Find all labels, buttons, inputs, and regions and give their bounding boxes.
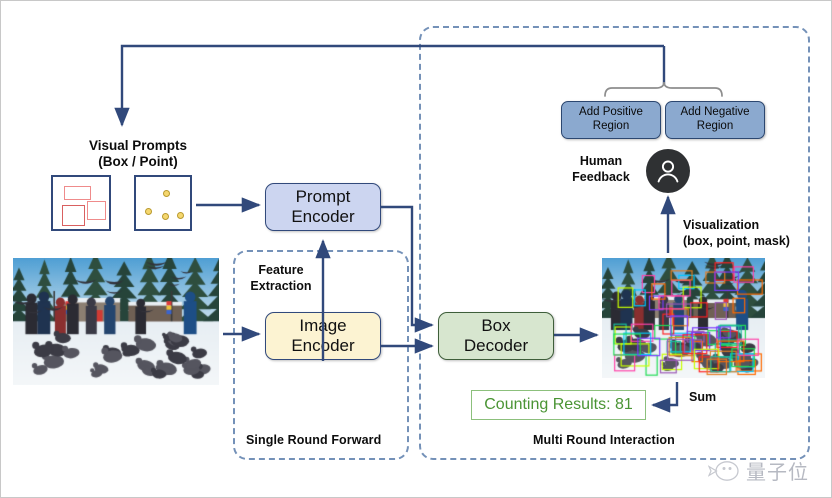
point-prompt-thumbnail[interactable]: [134, 175, 192, 231]
add-positive-region-line2: Region: [593, 120, 629, 132]
visual-prompts-label-line2: (Box / Point): [63, 153, 213, 170]
add-negative-region-line2: Region: [697, 120, 733, 132]
output-photo-with-boxes: [602, 258, 765, 378]
watermark-text: 量子位: [746, 456, 809, 485]
prompt-point-1: [163, 190, 170, 197]
node-image-encoder-line1: Image: [291, 316, 354, 336]
sum-label: Sum: [689, 389, 729, 405]
input-photo: [13, 258, 219, 385]
visualization-label-line1: Visualization: [683, 217, 831, 233]
node-prompt-encoder-line1: Prompt: [291, 187, 354, 207]
person-avatar-icon: [646, 149, 690, 193]
visual-prompts-label-line1: Visual Prompts: [63, 137, 213, 154]
node-box-decoder[interactable]: Box Decoder: [438, 312, 554, 360]
diagram-canvas: Single Round Forward Multi Round Interac…: [0, 0, 832, 498]
feature-extraction-label-line2: Extraction: [240, 278, 322, 294]
fish-logo-icon: [708, 459, 742, 483]
add-positive-region-line1: Add Positive: [579, 106, 643, 118]
feature-extraction-label-line1: Feature: [240, 262, 322, 278]
box-prompt-thumbnail[interactable]: [51, 175, 111, 231]
add-negative-region-button[interactable]: Add Negative Region: [665, 101, 765, 139]
prompt-box-2: [62, 205, 85, 226]
prompt-point-3: [162, 213, 169, 220]
node-prompt-encoder-line2: Encoder: [291, 207, 354, 227]
region-multi-round-interaction-label: Multi Round Interaction: [533, 433, 675, 447]
watermark-logo: 量子位: [708, 456, 809, 485]
human-feedback-label-line2: Feedback: [566, 169, 636, 185]
node-box-decoder-line1: Box: [464, 316, 528, 336]
node-box-decoder-line2: Decoder: [464, 336, 528, 356]
visualization-label-line2: (box, point, mask): [683, 233, 831, 249]
prompt-point-2: [145, 208, 152, 215]
human-feedback-label-line1: Human: [566, 153, 636, 169]
add-positive-region-button[interactable]: Add Positive Region: [561, 101, 661, 139]
node-image-encoder[interactable]: Image Encoder: [265, 312, 381, 360]
counting-results-box: Counting Results: 81: [471, 390, 646, 420]
prompt-box-1: [64, 186, 91, 200]
region-single-round-forward-label: Single Round Forward: [246, 433, 381, 447]
add-negative-region-line1: Add Negative: [680, 106, 749, 118]
counting-results-text: Counting Results: 81: [484, 396, 633, 414]
prompt-box-3: [87, 201, 106, 220]
prompt-point-4: [177, 212, 184, 219]
node-prompt-encoder[interactable]: Prompt Encoder: [265, 183, 381, 231]
node-image-encoder-line2: Encoder: [291, 336, 354, 356]
